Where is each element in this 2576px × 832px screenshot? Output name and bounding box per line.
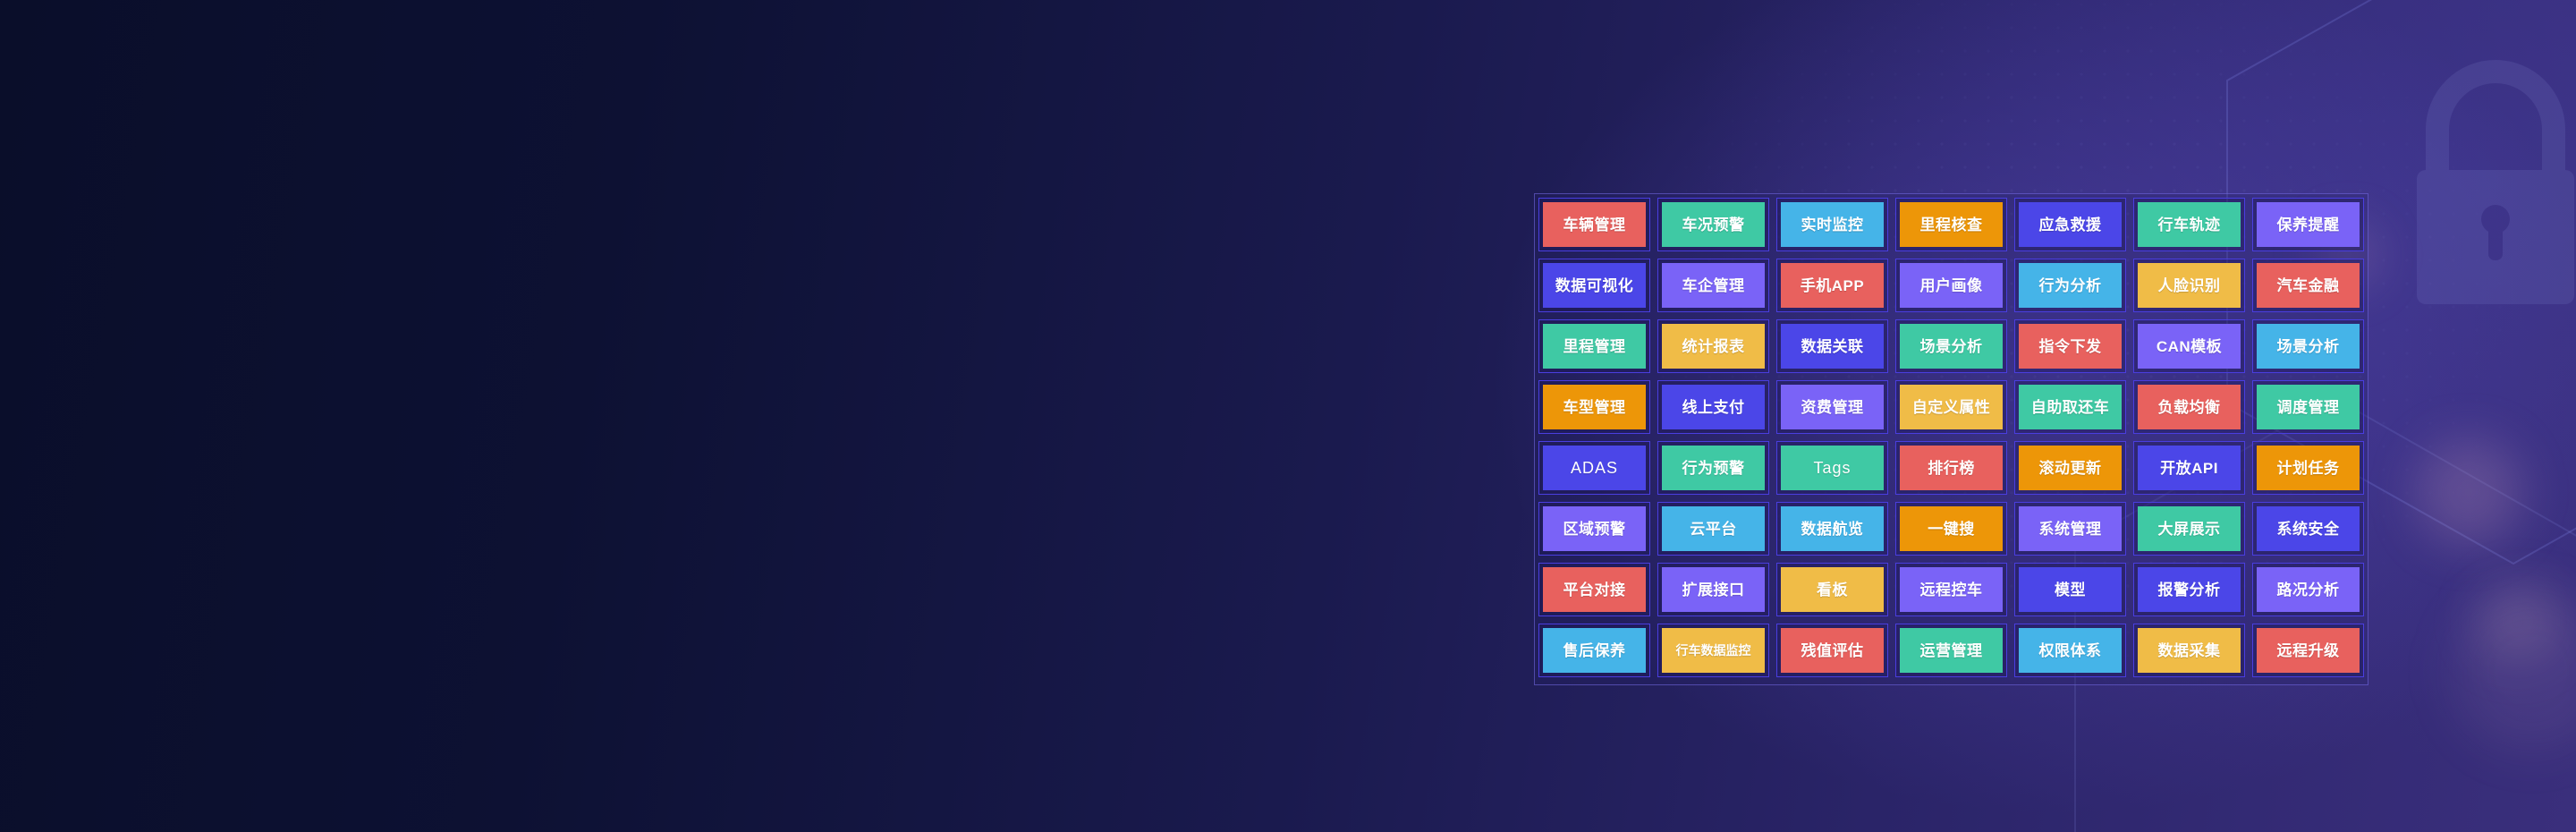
- tag-cell[interactable]: 云平台: [1657, 502, 1769, 556]
- tag-cell[interactable]: 计划任务: [2252, 441, 2364, 495]
- tag-cell[interactable]: 行为分析: [2014, 259, 2126, 312]
- tag-cell[interactable]: 残值评估: [1776, 624, 1888, 677]
- tag-button[interactable]: 权限体系: [2019, 628, 2122, 673]
- tag-row: 里程管理统计报表数据关联场景分析指令下发CAN模板场景分析: [1538, 319, 2364, 373]
- tag-button[interactable]: 残值评估: [1781, 628, 1884, 673]
- tag-cell[interactable]: 线上支付: [1657, 380, 1769, 434]
- tag-button[interactable]: 滚动更新: [2019, 446, 2122, 490]
- tag-cell[interactable]: 远程升级: [2252, 624, 2364, 677]
- tag-button[interactable]: 售后保养: [1543, 628, 1646, 673]
- tag-cell[interactable]: 指令下发: [2014, 319, 2126, 373]
- tag-cell[interactable]: 行车数据监控: [1657, 624, 1769, 677]
- tag-cell[interactable]: 里程管理: [1538, 319, 1650, 373]
- tag-cell[interactable]: 保养提醒: [2252, 198, 2364, 251]
- glow-orb: [2478, 582, 2558, 662]
- tag-cell[interactable]: 手机APP: [1776, 259, 1888, 312]
- tag-button[interactable]: 负载均衡: [2138, 385, 2241, 429]
- tag-button[interactable]: 车况预警: [1662, 202, 1765, 247]
- tag-button[interactable]: 车型管理: [1543, 385, 1646, 429]
- tag-cell[interactable]: 看板: [1776, 563, 1888, 616]
- tag-button[interactable]: 行车轨迹: [2138, 202, 2241, 247]
- tag-button[interactable]: CAN模板: [2138, 324, 2241, 369]
- tag-button[interactable]: 行为预警: [1662, 446, 1765, 490]
- tag-button[interactable]: 人脸识别: [2138, 263, 2241, 308]
- tag-button[interactable]: 远程控车: [1900, 567, 2003, 612]
- tag-button[interactable]: 自定义属性: [1900, 385, 2003, 429]
- tag-cell[interactable]: 数据可视化: [1538, 259, 1650, 312]
- tag-cell[interactable]: 数据关联: [1776, 319, 1888, 373]
- tag-cell[interactable]: 场景分析: [2252, 319, 2364, 373]
- tag-button[interactable]: 用户画像: [1900, 263, 2003, 308]
- tag-button[interactable]: 场景分析: [2257, 324, 2360, 369]
- tag-cell[interactable]: 负载均衡: [2133, 380, 2245, 434]
- tag-button[interactable]: 场景分析: [1900, 324, 2003, 369]
- tag-button[interactable]: 汽车金融: [2257, 263, 2360, 308]
- tag-button[interactable]: 系统管理: [2019, 506, 2122, 551]
- tag-button[interactable]: 系统安全: [2257, 506, 2360, 551]
- tag-button[interactable]: 手机APP: [1781, 263, 1884, 308]
- tag-button[interactable]: 数据采集: [2138, 628, 2241, 673]
- tag-cell[interactable]: 场景分析: [1895, 319, 2007, 373]
- tag-cell[interactable]: 自定义属性: [1895, 380, 2007, 434]
- tag-button[interactable]: 云平台: [1662, 506, 1765, 551]
- tag-row: 数据可视化车企管理手机APP用户画像行为分析人脸识别汽车金融: [1538, 259, 2364, 312]
- tag-button[interactable]: 平台对接: [1543, 567, 1646, 612]
- tag-row: ADAS行为预警Tags排行榜滚动更新开放API计划任务: [1538, 441, 2364, 495]
- tag-button[interactable]: 一键搜: [1900, 506, 2003, 551]
- tag-cell[interactable]: 系统管理: [2014, 502, 2126, 556]
- tag-cell[interactable]: 里程核查: [1895, 198, 2007, 251]
- tag-cell[interactable]: 滚动更新: [2014, 441, 2126, 495]
- tag-cell[interactable]: CAN模板: [2133, 319, 2245, 373]
- tag-button[interactable]: Tags: [1781, 446, 1884, 490]
- tag-cell[interactable]: 车况预警: [1657, 198, 1769, 251]
- tag-cell[interactable]: 实时监控: [1776, 198, 1888, 251]
- tag-cell[interactable]: 远程控车: [1895, 563, 2007, 616]
- tag-cell[interactable]: 开放API: [2133, 441, 2245, 495]
- tag-button[interactable]: 资费管理: [1781, 385, 1884, 429]
- tag-button[interactable]: 数据关联: [1781, 324, 1884, 369]
- tag-cell[interactable]: 权限体系: [2014, 624, 2126, 677]
- tag-button[interactable]: 调度管理: [2257, 385, 2360, 429]
- tag-button[interactable]: 开放API: [2138, 446, 2241, 490]
- tag-cell[interactable]: 汽车金融: [2252, 259, 2364, 312]
- tag-button[interactable]: 行为分析: [2019, 263, 2122, 308]
- tag-button[interactable]: 线上支付: [1662, 385, 1765, 429]
- tag-button[interactable]: 报警分析: [2138, 567, 2241, 612]
- tag-row: 车辆管理车况预警实时监控里程核查应急救援行车轨迹保养提醒: [1538, 198, 2364, 251]
- tag-cell[interactable]: 资费管理: [1776, 380, 1888, 434]
- tag-button[interactable]: 实时监控: [1781, 202, 1884, 247]
- tag-cell[interactable]: 行为预警: [1657, 441, 1769, 495]
- lock-icon: [2361, 36, 2576, 331]
- tag-cell[interactable]: 统计报表: [1657, 319, 1769, 373]
- tag-row: 售后保养行车数据监控残值评估运营管理权限体系数据采集远程升级: [1538, 624, 2364, 677]
- tag-button[interactable]: 指令下发: [2019, 324, 2122, 369]
- tag-button[interactable]: 应急救援: [2019, 202, 2122, 247]
- tag-button[interactable]: 区域预警: [1543, 506, 1646, 551]
- tag-button[interactable]: 自助取还车: [2019, 385, 2122, 429]
- tag-cell[interactable]: ADAS: [1538, 441, 1650, 495]
- tag-button[interactable]: 里程核查: [1900, 202, 2003, 247]
- tag-cell[interactable]: 行车轨迹: [2133, 198, 2245, 251]
- tag-cell[interactable]: 数据采集: [2133, 624, 2245, 677]
- tag-cell[interactable]: 系统安全: [2252, 502, 2364, 556]
- tag-button[interactable]: 车企管理: [1662, 263, 1765, 308]
- tag-cell[interactable]: 模型: [2014, 563, 2126, 616]
- tag-cell[interactable]: 车辆管理: [1538, 198, 1650, 251]
- tag-button[interactable]: 运营管理: [1900, 628, 2003, 673]
- tag-cell[interactable]: 自助取还车: [2014, 380, 2126, 434]
- tag-cell[interactable]: 应急救援: [2014, 198, 2126, 251]
- tag-cell[interactable]: 大屏展示: [2133, 502, 2245, 556]
- tag-cell[interactable]: 调度管理: [2252, 380, 2364, 434]
- tag-cell[interactable]: 数据航览: [1776, 502, 1888, 556]
- tag-cell[interactable]: 一键搜: [1895, 502, 2007, 556]
- tag-button[interactable]: 路况分析: [2257, 567, 2360, 612]
- tag-cell[interactable]: 路况分析: [2252, 563, 2364, 616]
- tag-cell[interactable]: Tags: [1776, 441, 1888, 495]
- tag-button[interactable]: 统计报表: [1662, 324, 1765, 369]
- tag-row: 车型管理线上支付资费管理自定义属性自助取还车负载均衡调度管理: [1538, 380, 2364, 434]
- tag-button[interactable]: 看板: [1781, 567, 1884, 612]
- tag-cell[interactable]: 排行榜: [1895, 441, 2007, 495]
- tag-cell[interactable]: 报警分析: [2133, 563, 2245, 616]
- tag-button[interactable]: 数据可视化: [1543, 263, 1646, 308]
- tag-cell[interactable]: 车型管理: [1538, 380, 1650, 434]
- tag-button[interactable]: 大屏展示: [2138, 506, 2241, 551]
- screen-root: 车辆管理车况预警实时监控里程核查应急救援行车轨迹保养提醒数据可视化车企管理手机A…: [0, 0, 2576, 832]
- tag-button[interactable]: 排行榜: [1900, 446, 2003, 490]
- tag-button[interactable]: 车辆管理: [1543, 202, 1646, 247]
- tag-cell[interactable]: 扩展接口: [1657, 563, 1769, 616]
- tag-cell[interactable]: 车企管理: [1657, 259, 1769, 312]
- tag-button[interactable]: 行车数据监控: [1662, 628, 1765, 673]
- tag-cell[interactable]: 售后保养: [1538, 624, 1650, 677]
- glow-orb: [2451, 590, 2576, 751]
- tag-row: 区域预警云平台数据航览一键搜系统管理大屏展示系统安全: [1538, 502, 2364, 556]
- tag-button[interactable]: 计划任务: [2257, 446, 2360, 490]
- tag-cell[interactable]: 人脸识别: [2133, 259, 2245, 312]
- tag-button[interactable]: 模型: [2019, 567, 2122, 612]
- tag-button[interactable]: 里程管理: [1543, 324, 1646, 369]
- tag-button[interactable]: 保养提醒: [2257, 202, 2360, 247]
- tag-button[interactable]: 远程升级: [2257, 628, 2360, 673]
- tag-button[interactable]: 扩展接口: [1662, 567, 1765, 612]
- tag-cell[interactable]: 运营管理: [1895, 624, 2007, 677]
- glow-orb: [2415, 438, 2522, 546]
- tag-button[interactable]: 数据航览: [1781, 506, 1884, 551]
- tag-cell[interactable]: 用户画像: [1895, 259, 2007, 312]
- tag-cell[interactable]: 区域预警: [1538, 502, 1650, 556]
- feature-tag-grid: 车辆管理车况预警实时监控里程核查应急救援行车轨迹保养提醒数据可视化车企管理手机A…: [1534, 193, 2368, 685]
- tag-row: 平台对接扩展接口看板远程控车模型报警分析路况分析: [1538, 563, 2364, 616]
- tag-cell[interactable]: 平台对接: [1538, 563, 1650, 616]
- tag-button[interactable]: ADAS: [1543, 446, 1646, 490]
